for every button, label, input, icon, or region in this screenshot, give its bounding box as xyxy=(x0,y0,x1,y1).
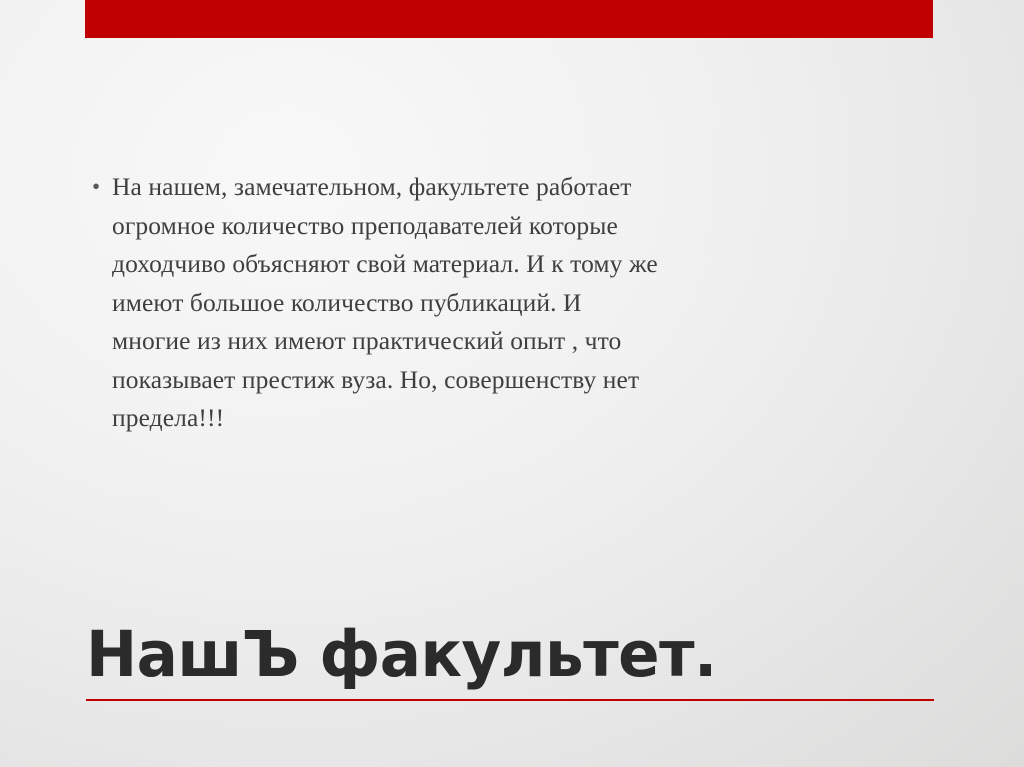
slide-body: • На нашем, замечательном, факультете ра… xyxy=(86,168,666,438)
bullet-text: На нашем, замечательном, факультете рабо… xyxy=(112,168,666,438)
top-accent-bar xyxy=(85,0,933,38)
list-item: • На нашем, замечательном, факультете ра… xyxy=(86,168,666,438)
presentation-slide: • На нашем, замечательном, факультете ра… xyxy=(0,0,1024,767)
page-title: НашЪ факультет. xyxy=(86,621,911,689)
slide-title: НашЪ факультет. xyxy=(86,621,936,689)
bullet-marker: • xyxy=(86,168,112,206)
title-underline-rule xyxy=(86,699,934,701)
